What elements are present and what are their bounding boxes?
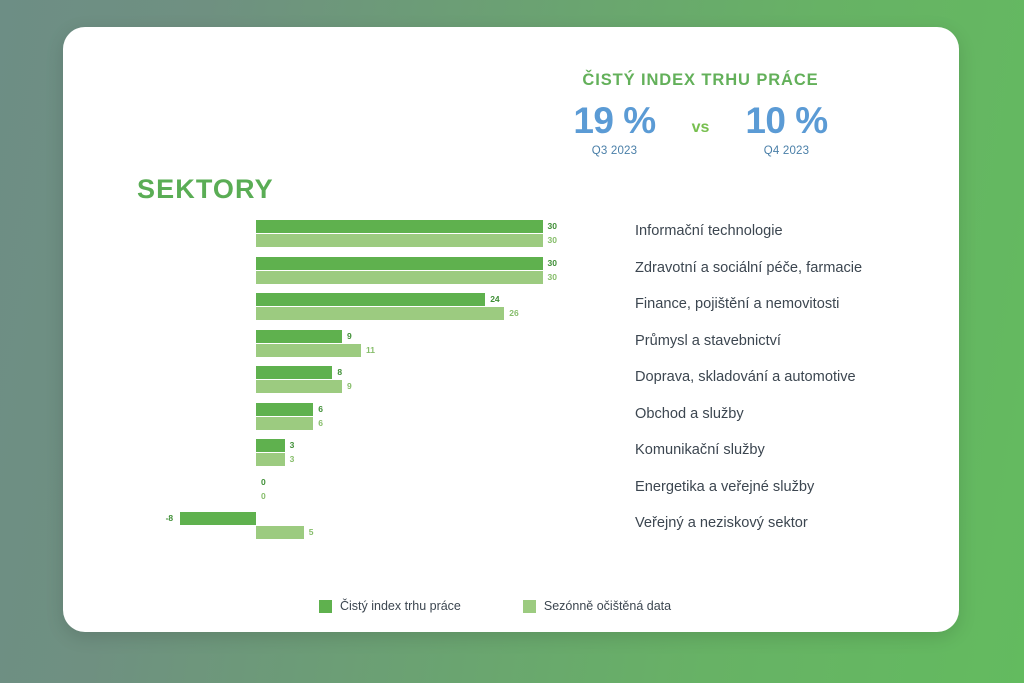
- bar-value-label: 6: [318, 404, 323, 414]
- bar-value-label: 0: [261, 477, 266, 487]
- bar-value-label: 3: [290, 454, 295, 464]
- chart-legend: Čistý index trhu práceSezónně očištěná d…: [319, 599, 671, 613]
- chart-row: 00Energetika a veřejné služby: [83, 473, 943, 510]
- chart-row-bars: 00: [83, 473, 523, 510]
- legend-item[interactable]: Sezónně očištěná data: [523, 599, 671, 613]
- bar-secondary: [256, 234, 543, 247]
- chart-row-bars: 911: [83, 327, 523, 364]
- bar-value-label: -8: [166, 513, 174, 523]
- bar-secondary: [256, 380, 342, 393]
- bar-value-label: 9: [347, 331, 352, 341]
- section-title: SEKTORY: [137, 174, 274, 205]
- chart-row: -85Veřejný a neziskový sektor: [83, 509, 943, 546]
- legend-label: Čistý index trhu práce: [340, 599, 461, 613]
- bar-value-label: 30: [548, 272, 557, 282]
- kpi-left-period: Q3 2023: [549, 145, 681, 157]
- chart-row-bars: 3030: [83, 254, 523, 291]
- chart-row: 33Komunikační služby: [83, 436, 943, 473]
- chart-row: 911Průmysl a stavebnictví: [83, 327, 943, 364]
- bar-value-label: 9: [347, 381, 352, 391]
- bar-value-label: 30: [548, 258, 557, 268]
- bar-value-label: 11: [366, 345, 375, 355]
- bar-value-label: 24: [490, 294, 499, 304]
- legend-swatch-icon: [319, 600, 332, 613]
- bar-value-label: 8: [337, 367, 342, 377]
- bar-value-label: 5: [309, 527, 314, 537]
- kpi-comparison-row: 19 % Q3 2023 vs 10 % Q4 2023: [503, 102, 898, 157]
- category-label: Veřejný a neziskový sektor: [635, 515, 808, 531]
- kpi-vs-label: vs: [681, 102, 721, 137]
- chart-row-bars: 66: [83, 400, 523, 437]
- chart-row-bars: 33: [83, 436, 523, 473]
- bar-value-label: 30: [548, 221, 557, 231]
- chart-row-bars: 3030: [83, 217, 523, 254]
- kpi-left-value: 19 %: [549, 102, 681, 140]
- chart-row: 3030Informační technologie: [83, 217, 943, 254]
- legend-item[interactable]: Čistý index trhu práce: [319, 599, 461, 613]
- bar-secondary: [256, 526, 304, 539]
- chart-row: 2426Finance, pojištění a nemovitosti: [83, 290, 943, 327]
- kpi-left: 19 % Q3 2023: [549, 102, 681, 157]
- bar-secondary: [256, 344, 361, 357]
- bar-primary: [256, 439, 285, 452]
- bar-value-label: 6: [318, 418, 323, 428]
- chart-row-bars: 89: [83, 363, 523, 400]
- bar-value-label: 26: [509, 308, 518, 318]
- sector-bar-chart: 3030Informační technologie3030Zdravotní …: [83, 217, 943, 572]
- chart-row: 89Doprava, skladování a automotive: [83, 363, 943, 400]
- category-label: Obchod a služby: [635, 406, 744, 422]
- category-label: Průmysl a stavebnictví: [635, 333, 781, 349]
- kpi-right: 10 % Q4 2023: [721, 102, 853, 157]
- bar-value-label: 0: [261, 491, 266, 501]
- kpi-right-value: 10 %: [721, 102, 853, 140]
- bar-secondary: [256, 417, 313, 430]
- bar-primary: [256, 257, 543, 270]
- bar-primary: [256, 220, 543, 233]
- bar-primary: [256, 366, 332, 379]
- legend-label: Sezónně očištěná data: [544, 599, 671, 613]
- chart-row: 66Obchod a služby: [83, 400, 943, 437]
- bar-primary: [256, 403, 313, 416]
- category-label: Informační technologie: [635, 223, 783, 239]
- bar-primary: [256, 293, 485, 306]
- category-label: Doprava, skladování a automotive: [635, 369, 856, 385]
- kpi-title: ČISTÝ INDEX TRHU PRÁCE: [503, 71, 898, 90]
- category-label: Energetika a veřejné služby: [635, 479, 814, 495]
- bar-secondary: [256, 271, 543, 284]
- bar-value-label: 30: [548, 235, 557, 245]
- kpi-block: ČISTÝ INDEX TRHU PRÁCE 19 % Q3 2023 vs 1…: [503, 71, 898, 157]
- bar-value-label: 3: [290, 440, 295, 450]
- kpi-right-period: Q4 2023: [721, 145, 853, 157]
- bar-secondary: [256, 307, 504, 320]
- bar-primary: [180, 512, 256, 525]
- category-label: Finance, pojištění a nemovitosti: [635, 296, 839, 312]
- category-label: Komunikační služby: [635, 442, 765, 458]
- category-label: Zdravotní a sociální péče, farmacie: [635, 260, 862, 276]
- legend-swatch-icon: [523, 600, 536, 613]
- chart-row-bars: -85: [83, 509, 523, 546]
- report-card: ČISTÝ INDEX TRHU PRÁCE 19 % Q3 2023 vs 1…: [63, 27, 959, 632]
- bar-primary: [256, 330, 342, 343]
- chart-row-bars: 2426: [83, 290, 523, 327]
- bar-secondary: [256, 453, 285, 466]
- chart-row: 3030Zdravotní a sociální péče, farmacie: [83, 254, 943, 291]
